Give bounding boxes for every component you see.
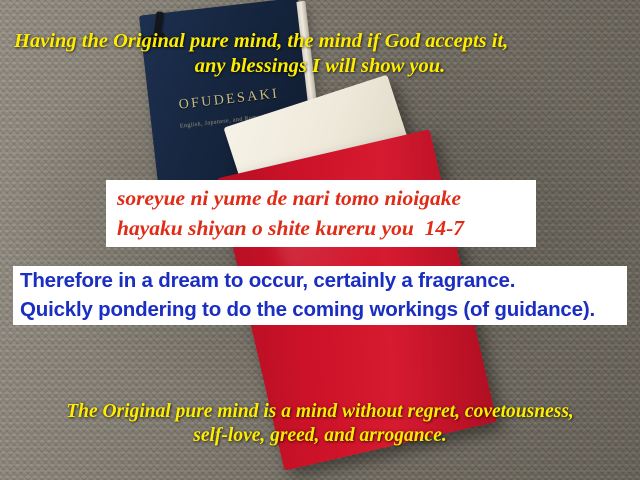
- english-line-1: Therefore in a dream to occur, certainly…: [13, 266, 627, 295]
- english-translation-box: Therefore in a dream to occur, certainly…: [13, 266, 627, 325]
- bottom-caption-line-1: The Original pure mind is a mind without…: [10, 400, 630, 424]
- top-caption-line-2: any blessings I will show you.: [10, 54, 630, 79]
- romaji-line-2: hayaku shiyan o shite kureru you 14-7: [106, 213, 536, 243]
- bottom-caption: The Original pure mind is a mind without…: [10, 400, 630, 448]
- romanization-text-box: soreyue ni yume de nari tomo nioigake ha…: [106, 180, 536, 247]
- english-line-2: Quickly pondering to do the coming worki…: [13, 295, 627, 324]
- bottom-caption-line-2: self-love, greed, and arrogance.: [10, 424, 630, 448]
- top-caption-line-1: Having the Original pure mind, the mind …: [10, 29, 630, 54]
- top-caption: Having the Original pure mind, the mind …: [10, 29, 630, 79]
- slide-canvas: OFUDESAKI English, Japanese, and Romaniz…: [0, 0, 640, 480]
- romaji-line-1: soreyue ni yume de nari tomo nioigake: [106, 183, 536, 213]
